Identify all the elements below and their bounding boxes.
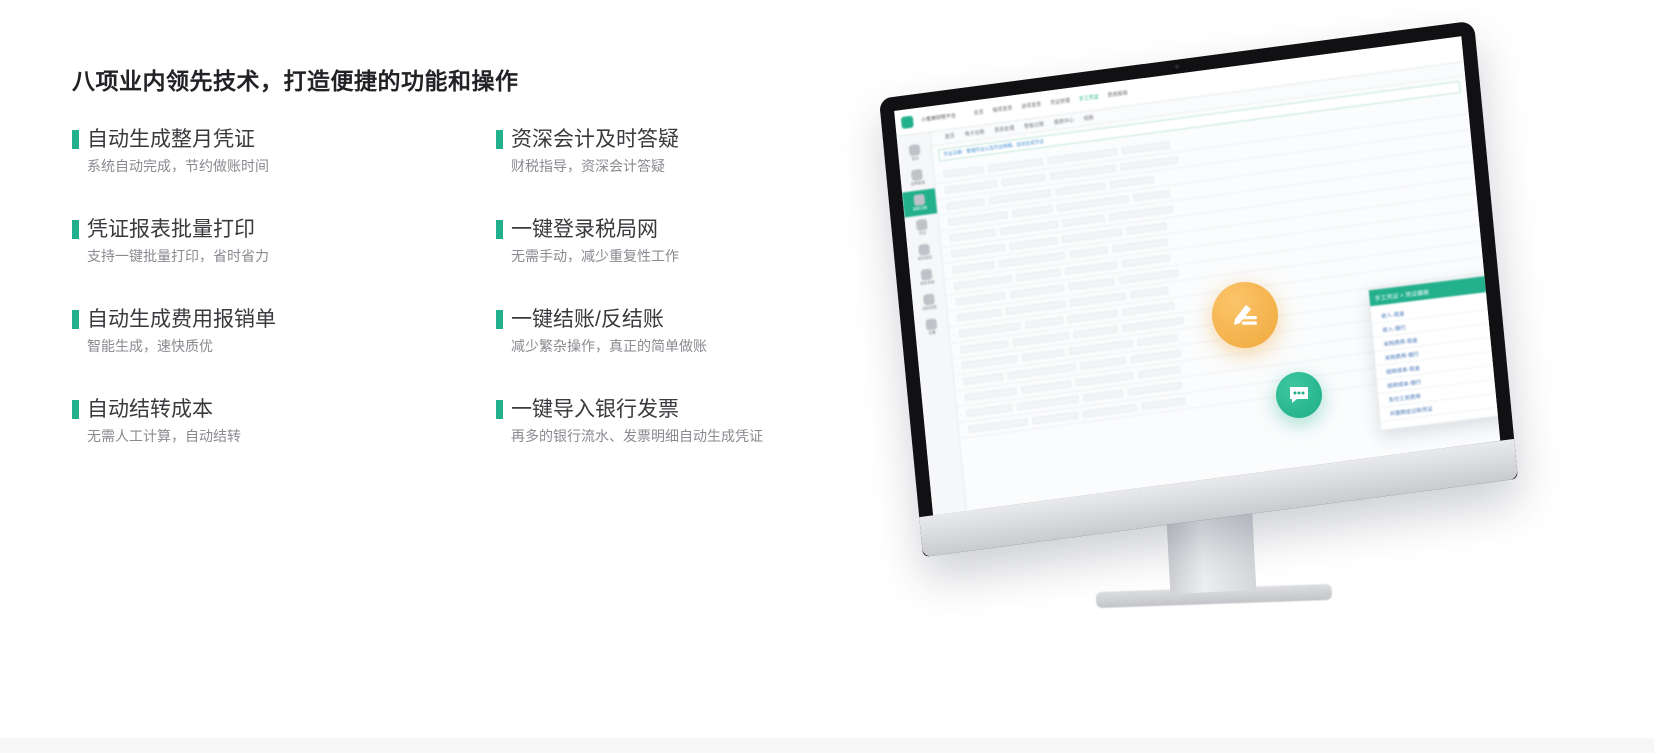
- feature-item: 一键导入银行发票 再多的银行流水、发票明细自动生成凭证: [496, 394, 892, 484]
- feature-subtitle: 支持一键批量打印，省时省力: [87, 246, 496, 267]
- feature-item: 资深会计及时答疑 财税指导，资深会计答疑: [496, 124, 892, 214]
- feature-subtitle: 无需人工计算，自动结转: [87, 426, 496, 447]
- bullet-marker-icon: [72, 220, 79, 239]
- feature-subtitle: 减少繁杂操作，真正的简单做账: [511, 336, 892, 357]
- bullet-marker-icon: [496, 400, 503, 419]
- pencil-badge: [1212, 282, 1278, 348]
- features-section: 八项业内领先技术，打造便捷的功能和操作 自动生成整月凭证 系统自动完成，节约做账…: [72, 0, 892, 753]
- app-tab[interactable]: 进项发票: [1021, 101, 1042, 111]
- app-main: 凭证日期：整理凭证以及凭证明细，自动生成凭证 · · · · · · · · ·…: [932, 76, 1500, 511]
- abacus-icon: [913, 194, 925, 206]
- feature-grid: 自动生成整月凭证 系统自动完成，节约做账时间 资深会计及时答疑 财税指导，资深会…: [72, 124, 892, 484]
- sidebar-item-label: 发票管理: [910, 181, 925, 188]
- feature-heading: 资深会计及时答疑: [496, 124, 892, 154]
- sidebar-item-label: 财务报表: [918, 255, 933, 262]
- bottom-divider-band: [0, 738, 1654, 753]
- feature-item: 一键登录税局网 无需手动，减少重复性工作: [496, 214, 892, 304]
- invoice-icon: [911, 169, 923, 181]
- feature-title: 一键结账/反结账: [511, 309, 664, 330]
- feature-item: 自动生成整月凭证 系统自动完成，节约做账时间: [72, 124, 496, 214]
- search-icon: [921, 268, 933, 280]
- feature-item: 凭证报表批量打印 支持一键批量打印，省时省力: [72, 214, 496, 304]
- app-brand: 小蜜蜂财税平台: [921, 112, 956, 124]
- bullet-marker-icon: [72, 400, 79, 419]
- sidebar-item-label: 设置: [928, 330, 936, 336]
- feature-title: 一键导入银行发票: [511, 399, 679, 420]
- report-icon: [918, 244, 930, 256]
- feature-heading: 一键结账/反结账: [496, 304, 892, 334]
- app-menu-item[interactable]: 结账: [1083, 114, 1094, 122]
- feature-title: 自动生成整月凭证: [87, 129, 255, 150]
- app-tab[interactable]: 凭证管理: [1050, 97, 1071, 107]
- monitor-screen: 小蜜蜂财税平台 总览 销项发票 进项发票 凭证管理 手工凭证 费用报销 首页 电…: [894, 36, 1500, 515]
- feature-item: 自动生成费用报销单 智能生成，速快质优: [72, 304, 496, 394]
- feature-title: 凭证报表批量打印: [87, 219, 255, 240]
- feature-subtitle: 智能生成，速快质优: [87, 336, 496, 357]
- home-icon: [909, 144, 921, 156]
- sidebar-item-label: 结转结账: [922, 305, 937, 312]
- feature-subtitle: 无需手动，减少重复性工作: [511, 246, 892, 267]
- app-tab[interactable]: 销项发票: [992, 105, 1013, 115]
- app-menu-item[interactable]: 报表中心: [1054, 117, 1075, 127]
- pencil-list-icon: [1228, 298, 1262, 332]
- voucher-icon: [916, 219, 928, 231]
- feature-subtitle: 再多的银行流水、发票明细自动生成凭证: [511, 426, 892, 447]
- feature-heading: 一键登录税局网: [496, 214, 892, 244]
- sidebar-item-label: 首页: [912, 156, 920, 162]
- monitor-device: 小蜜蜂财税平台 总览 销项发票 进项发票 凭证管理 手工凭证 费用报销 首页 电…: [879, 21, 1518, 557]
- feature-title: 一键登录税局网: [511, 219, 658, 240]
- feature-heading: 自动生成费用报销单: [72, 304, 496, 334]
- chat-badge: [1276, 372, 1322, 418]
- sidebar-item-label: 税务申报: [920, 280, 935, 287]
- feature-title: 资深会计及时答疑: [511, 129, 679, 150]
- chat-bubble-icon: [1287, 383, 1311, 407]
- app-tab[interactable]: 总览: [973, 108, 984, 116]
- bullet-marker-icon: [496, 130, 503, 149]
- feature-item: 一键结账/反结账 减少繁杂操作，真正的简单做账: [496, 304, 892, 394]
- feature-heading: 自动结转成本: [72, 394, 496, 424]
- transfer-icon: [923, 293, 935, 305]
- feature-title: 自动结转成本: [87, 399, 213, 420]
- sidebar-item-label: 智能记账: [913, 205, 928, 212]
- app-logo-icon: [901, 115, 914, 129]
- feature-subtitle: 财税指导，资深会计答疑: [511, 156, 892, 177]
- feature-item: 自动结转成本 无需人工计算，自动结转: [72, 394, 496, 484]
- app-tab-selected[interactable]: 手工凭证: [1079, 93, 1100, 103]
- bullet-marker-icon: [496, 220, 503, 239]
- app-menu-item[interactable]: 首页: [945, 132, 956, 140]
- app-menu-item[interactable]: 智能记账: [1024, 121, 1045, 131]
- feature-heading: 自动生成整月凭证: [72, 124, 496, 154]
- feature-subtitle: 系统自动完成，节约做账时间: [87, 156, 496, 177]
- app-tab[interactable]: 费用报销: [1107, 89, 1128, 99]
- bullet-marker-icon: [496, 310, 503, 329]
- gear-icon: [925, 318, 937, 330]
- section-heading: 八项业内领先技术，打造便捷的功能和操作: [72, 62, 519, 96]
- app-menu-item[interactable]: 票务处理: [994, 124, 1015, 134]
- feature-heading: 凭证报表批量打印: [72, 214, 496, 244]
- feature-heading: 一键导入银行发票: [496, 394, 892, 424]
- bullet-marker-icon: [72, 310, 79, 329]
- app-screenshot: 小蜜蜂财税平台 总览 销项发票 进项发票 凭证管理 手工凭证 费用报销 首页 电…: [894, 36, 1500, 515]
- sidebar-item-settings[interactable]: 设置: [914, 313, 949, 342]
- bullet-marker-icon: [72, 130, 79, 149]
- feature-title: 自动生成费用报销单: [87, 309, 276, 330]
- sidebar-item-label: 凭证: [919, 231, 927, 237]
- app-menu-item[interactable]: 电子台账: [964, 128, 985, 138]
